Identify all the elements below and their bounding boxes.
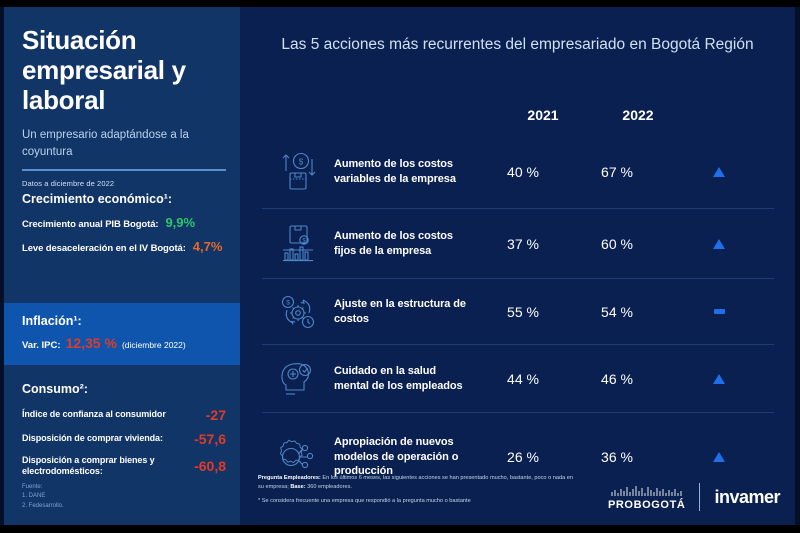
trend-cell xyxy=(664,167,774,177)
inflation-heading: Inflación¹: xyxy=(22,314,222,328)
consumption-label-vivienda: Disposición de comprar vivienda: xyxy=(22,433,163,444)
slide-canvas: Situación empresarial y laboral Un empre… xyxy=(0,0,800,533)
footnote-question-label: Pregunta Empleadores: xyxy=(258,475,321,481)
action-label: Apropiación de nuevos modelos de operaci… xyxy=(334,435,470,479)
table-row: $ Aumento de los costos variables de la … xyxy=(262,135,774,209)
sidebar-content: Situación empresarial y laboral Un empre… xyxy=(4,7,240,254)
inflation-period-note: (diciembre 2022) xyxy=(122,340,186,350)
new-models-icon xyxy=(262,435,334,479)
source-note-text: Fuente: 1. DANE 2. Fedesarrollo. xyxy=(22,484,64,509)
stat-row-pib: Crecimiento anual PIB Bogotá: 9,9% xyxy=(22,215,224,230)
letterbox-top-bar xyxy=(0,0,800,7)
trend-cell xyxy=(664,374,774,384)
trend-up-icon xyxy=(713,167,725,177)
stat-row-desaceleracion: Leve desaceleración en el IV Bogotá: 4,7… xyxy=(22,239,224,254)
consumption-heading: Consumo²: xyxy=(22,382,226,396)
column-header-row: 2021 2022 xyxy=(240,107,795,131)
source-note: Fuente: 1. DANE 2. Fedesarrollo. xyxy=(22,483,64,511)
growth-section-heading: Crecimiento económico¹: xyxy=(22,192,224,206)
chart-title: Las 5 acciones más recurrentes del empre… xyxy=(240,7,795,55)
stat-value-desaceleracion: 4,7% xyxy=(193,239,223,254)
logo-separator xyxy=(699,483,700,511)
inflation-value: 12,35 % xyxy=(66,335,117,351)
action-label: Cuidado en la salud mental de los emplea… xyxy=(334,364,470,393)
trend-cell xyxy=(664,309,774,314)
svg-text:$: $ xyxy=(299,157,304,166)
consumption-section: Consumo²: Índice de confianza al consumi… xyxy=(4,382,240,486)
table-row: $ Aumento de los costos fijos de la empr… xyxy=(262,209,774,279)
action-label: Aumento de los costos fijos de la empres… xyxy=(334,229,470,258)
slide-left-edge xyxy=(0,0,4,533)
probogota-logo: PROBOGOTÁ xyxy=(608,483,686,511)
value-2021: 37 % xyxy=(476,236,570,252)
main-panel: Las 5 acciones más recurrentes del empre… xyxy=(240,7,795,525)
page-subtitle: Un empresario adaptándose a la coyuntura xyxy=(22,127,224,160)
stat-label-desaceleracion: Leve desaceleración en el IV Bogotá: xyxy=(22,243,186,254)
footnote: Pregunta Empleadores: En los últimos 6 m… xyxy=(258,474,578,507)
value-2021: 44 % xyxy=(476,371,570,387)
consumption-value-vivienda: -57,6 xyxy=(194,431,226,447)
column-header-2022: 2022 xyxy=(608,107,668,123)
table-row: Cuidado en la salud mental de los emplea… xyxy=(262,345,774,413)
footnote-star-note: * Se considera frecuente una empresa que… xyxy=(258,497,578,507)
cost-structure-icon: $ xyxy=(262,291,334,333)
stat-value-pib: 9,9% xyxy=(165,215,195,230)
data-date-note: Datos a diciembre de 2022 xyxy=(22,179,224,188)
inflation-row: Var. IPC: 12,35 % (diciembre 2022) xyxy=(22,335,222,351)
letterbox-bottom-bar xyxy=(0,525,800,533)
invamer-logo: invamer xyxy=(714,487,780,508)
value-2022: 54 % xyxy=(570,304,664,320)
value-2022: 36 % xyxy=(570,449,664,465)
skyline-icon xyxy=(610,483,684,498)
consumption-value-confianza: -27 xyxy=(206,407,226,423)
value-2021: 26 % xyxy=(476,449,570,465)
slide-right-edge xyxy=(795,0,800,533)
trend-flat-icon xyxy=(714,309,725,314)
value-2021: 40 % xyxy=(476,164,570,180)
consumption-value-bienes: -60,8 xyxy=(194,458,226,474)
trend-up-icon xyxy=(713,239,725,249)
trend-up-icon xyxy=(713,374,725,384)
table-row: $ Ajuste en la estructura de costos 55 % xyxy=(262,279,774,345)
footnote-base-text: 360 empleadores. xyxy=(306,484,352,490)
svg-text:$: $ xyxy=(286,299,290,306)
column-header-2021: 2021 xyxy=(513,107,573,123)
stat-label-pib: Crecimiento anual PIB Bogotá: xyxy=(22,219,158,230)
probogota-wordmark: PROBOGOTÁ xyxy=(608,499,686,511)
trend-cell xyxy=(664,452,774,462)
inflation-label: Var. IPC: xyxy=(22,340,61,351)
trend-up-icon xyxy=(713,452,725,462)
value-2022: 60 % xyxy=(570,236,664,252)
trend-cell xyxy=(664,239,774,249)
mental-health-icon xyxy=(262,358,334,400)
cost-fixed-icon: $ xyxy=(262,223,334,265)
sidebar-panel: Situación empresarial y laboral Un empre… xyxy=(4,7,240,525)
inflation-highlight-band: Inflación¹: Var. IPC: 12,35 % (diciembre… xyxy=(4,303,240,365)
actions-table: $ Aumento de los costos variables de la … xyxy=(262,135,774,501)
footnote-base-label: Base: xyxy=(290,484,305,490)
action-label: Aumento de los costos variables de la em… xyxy=(334,157,470,186)
consumption-row-confianza: Índice de confianza al consumidor -27 xyxy=(22,407,226,423)
consumption-row-vivienda: Disposición de comprar vivienda: -57,6 xyxy=(22,431,226,447)
value-2022: 67 % xyxy=(570,164,664,180)
value-2021: 55 % xyxy=(476,304,570,320)
action-label: Ajuste en la estructura de costos xyxy=(334,297,470,326)
page-title: Situación empresarial y laboral xyxy=(22,25,224,115)
cost-variable-icon: $ xyxy=(262,151,334,193)
consumption-label-bienes: Disposición a comprar bienes y electrodo… xyxy=(22,455,162,478)
consumption-row-bienes: Disposición a comprar bienes y electrodo… xyxy=(22,455,226,478)
consumption-label-confianza: Índice de confianza al consumidor xyxy=(22,409,166,420)
sidebar-divider xyxy=(22,169,226,171)
value-2022: 46 % xyxy=(570,371,664,387)
logo-group: PROBOGOTÁ invamer xyxy=(608,483,780,511)
